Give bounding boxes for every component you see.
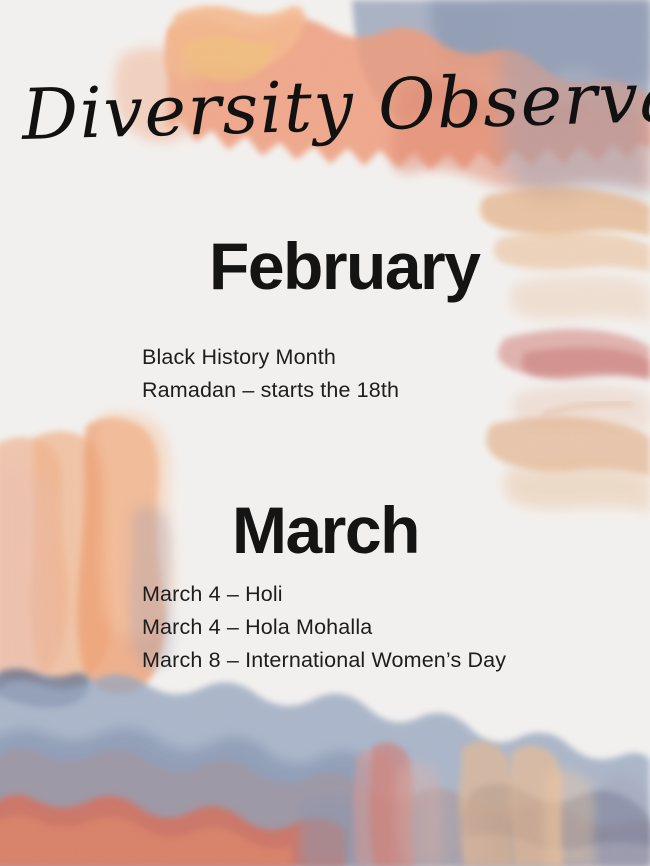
list-item: March 4 – Holi — [142, 578, 506, 611]
list-item: Black History Month — [142, 341, 399, 374]
list-item: March 4 – Hola Mohalla — [142, 611, 506, 644]
list-item: March 8 – International Women’s Day — [142, 644, 506, 677]
event-list-march: March 4 – Holi March 4 – Hola Mohalla Ma… — [142, 578, 506, 677]
poster-content: Diversity Observances February Black His… — [0, 0, 650, 866]
list-item: Ramadan – starts the 18th — [142, 374, 399, 407]
month-heading-march: March — [232, 497, 419, 563]
event-list-february: Black History Month Ramadan – starts the… — [142, 341, 399, 407]
diversity-observances-poster: Diversity Observances February Black His… — [0, 0, 650, 866]
month-heading-february: February — [209, 233, 479, 299]
page-title: Diversity Observances — [21, 55, 637, 158]
